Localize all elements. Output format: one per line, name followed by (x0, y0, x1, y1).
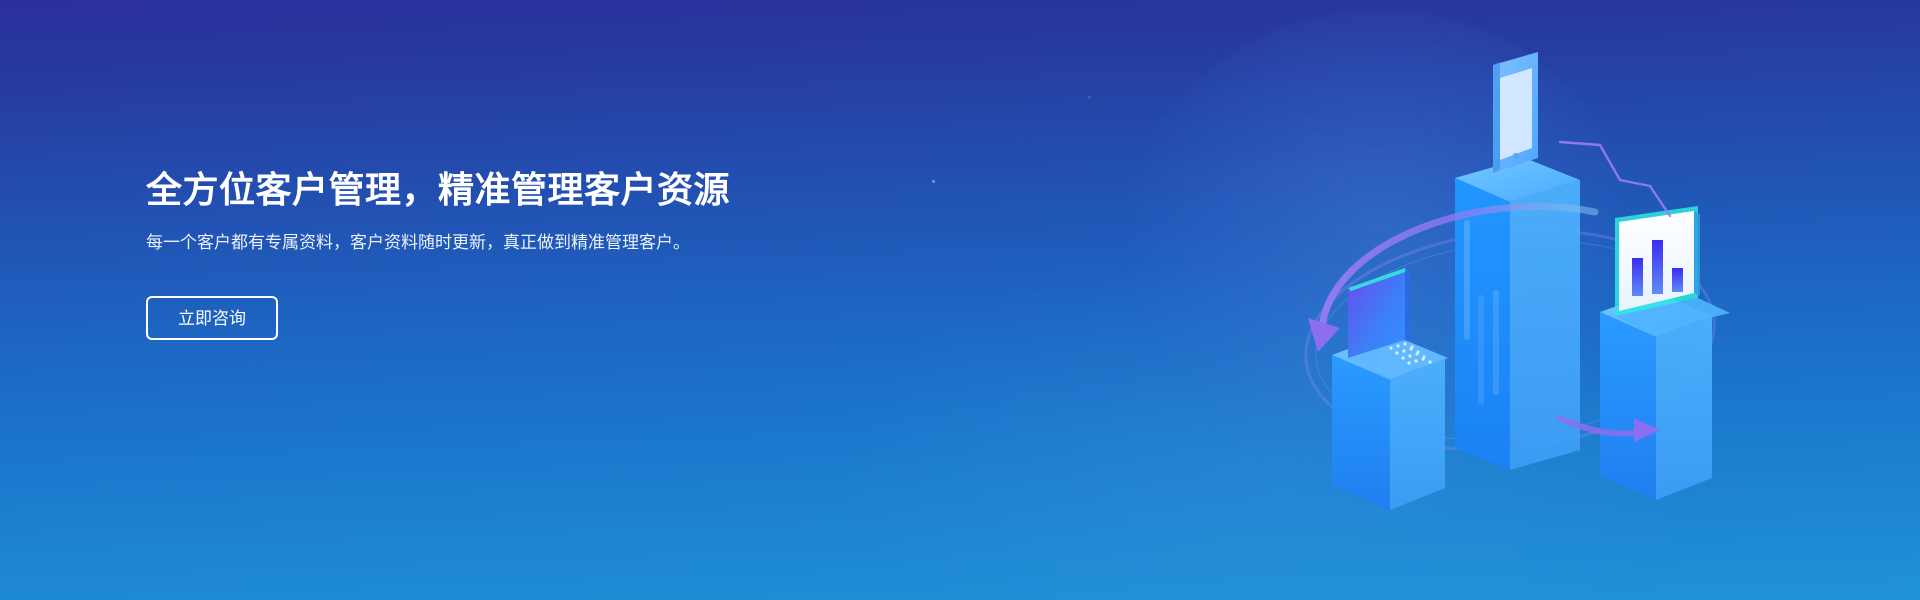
hero-banner: 全方位客户管理，精准管理客户资源 每一个客户都有专属资料，客户资料随时更新，真正… (0, 0, 1920, 600)
background-sparkle (932, 180, 935, 183)
laptop-device (1348, 268, 1448, 378)
hero-subtitle: 每一个客户都有专属资料，客户资料随时更新，真正做到精准管理客户。 (146, 230, 734, 256)
page-title: 全方位客户管理，精准管理客户资源 (146, 166, 786, 214)
consult-now-button[interactable]: 立即咨询 (146, 296, 278, 340)
monitor-device (1615, 206, 1730, 333)
hero-illustration (1260, 40, 1760, 540)
background-sparkle (1088, 96, 1091, 99)
hero-copy-block: 全方位客户管理，精准管理客户资源 每一个客户都有专属资料，客户资料随时更新，真正… (146, 166, 786, 340)
tablet-device (1493, 52, 1538, 173)
